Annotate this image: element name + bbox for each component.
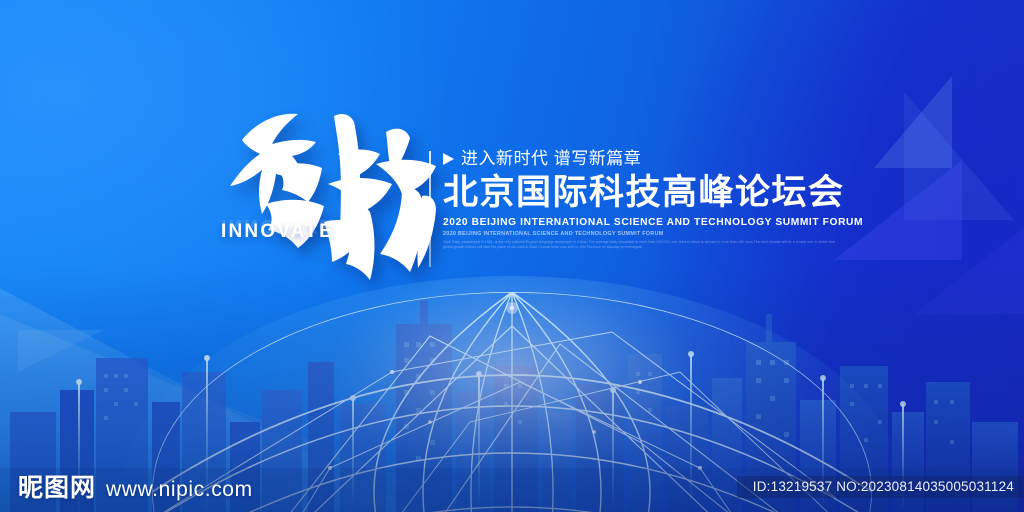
page-title: 北京国际科技高峰论坛会 [443, 174, 873, 212]
subtitle-english-small: 2020 BEIJING INTERNATIONAL SCIENCE AND T… [443, 231, 873, 237]
vertical-divider [429, 151, 431, 267]
calligraphy-brush-logo [216, 92, 446, 292]
watermark-site-cn: 昵图网 [18, 468, 96, 504]
headline-text-block: 进入新时代 谱写新篇章 北京国际科技高峰论坛会 2020 BEIJING INT… [443, 150, 873, 250]
tagline-text: 进入新时代 谱写新篇章 [461, 150, 641, 167]
asset-id-label: ID:13219537 NO:20230814035005031124 [737, 476, 1024, 498]
watermark-brand: 昵图网 www.nipic.com [18, 468, 253, 504]
brand-latin-reflection: INNOVATE [221, 214, 334, 236]
poster-canvas: INNOVATE INNOVATE 进入新时代 谱写新篇章 北京国际科技高峰论坛… [0, 0, 1024, 512]
triangle-right-icon [443, 153, 454, 165]
watermark-site-url: www.nipic.com [106, 478, 253, 502]
tagline-row: 进入新时代 谱写新篇章 [443, 150, 873, 167]
subtitle-english: 2020 BEIJING INTERNATIONAL SCIENCE AND T… [443, 217, 873, 228]
micro-paragraph: Time Daily, established in 1981, is the … [443, 240, 835, 251]
watermark-bar: 昵图网 www.nipic.com ID:13219537 NO:2023081… [0, 468, 1024, 512]
